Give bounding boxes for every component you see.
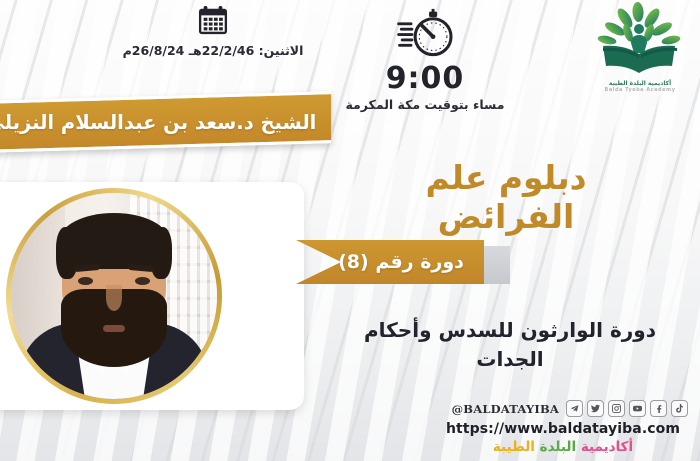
website-url[interactable]: https://www.baldatayiba.com — [438, 421, 688, 437]
course-number-ribbon: دورة رقم (8) — [296, 240, 508, 284]
photo-gold-ring — [6, 188, 222, 404]
tiktok-icon[interactable] — [671, 400, 688, 417]
event-time: 9:00 — [345, 64, 505, 94]
social-handle: @BALDATAYIBA — [452, 402, 559, 416]
logo-name-en: Balda Tyeba Academy — [588, 87, 692, 94]
speaker-name-ribbon: الشيخ د.سعد بن عبدالسلام النزيلي — [0, 91, 331, 153]
academy-word-1: أكاديمية — [581, 439, 633, 455]
course-subtitle: دورة الوارثون للسدس وأحكام الجدات — [360, 316, 660, 374]
stopwatch-icon — [397, 8, 453, 60]
tree-book-logo-icon — [592, 2, 688, 80]
academy-word-2: البلدة — [540, 439, 577, 455]
facebook-icon[interactable] — [650, 400, 667, 417]
speaker-name: الشيخ د.سعد بن عبدالسلام النزيلي — [0, 111, 332, 134]
instagram-icon[interactable] — [608, 400, 625, 417]
speaker-photo-card — [0, 182, 304, 410]
logo-name-ar: أكاديمية البلدة الطيبة — [588, 80, 692, 87]
poster-canvas: الاثنين: 22/2/46هـ 26/8/24م 9:00 مساء بت… — [0, 0, 700, 461]
date-block: الاثنين: 22/2/46هـ 26/8/24م — [118, 6, 308, 58]
calendar-icon — [198, 6, 228, 35]
academy-name-footer: أكاديمية البلدة الطيبة — [438, 439, 688, 455]
footer-block: @BALDATAYIBA https://www.baldatayiba.com… — [438, 400, 688, 455]
youtube-icon[interactable] — [629, 400, 646, 417]
course-badge-label: دورة رقم (8) — [316, 251, 464, 273]
event-date: الاثنين: 22/2/46هـ 26/8/24م — [118, 43, 308, 58]
event-timezone: مساء بتوقيت مكة المكرمة — [345, 97, 505, 113]
academy-word-3: الطيبة — [493, 439, 535, 455]
speaker-photo — [11, 193, 217, 399]
page-title: دبلوم علم الفرائض — [356, 158, 656, 236]
course-badge: دورة رقم (8) — [296, 240, 484, 284]
time-block: 9:00 مساء بتوقيت مكة المكرمة — [345, 8, 505, 113]
telegram-icon[interactable] — [566, 400, 583, 417]
twitter-icon[interactable] — [587, 400, 604, 417]
social-row: @BALDATAYIBA — [438, 400, 688, 417]
academy-logo[interactable]: أكاديمية البلدة الطيبة Balda Tyeba Acade… — [588, 2, 692, 94]
